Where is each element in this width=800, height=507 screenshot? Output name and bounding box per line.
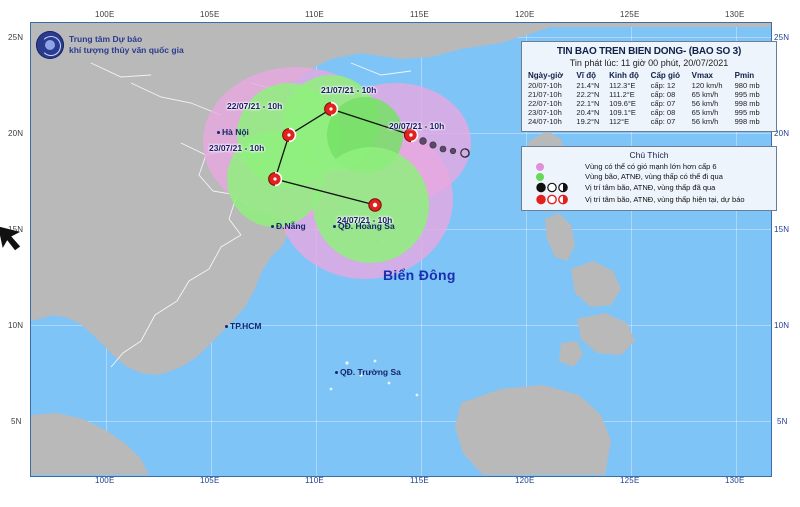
legend-symbols <box>528 163 580 171</box>
cell-pmin: 980 mb <box>735 81 770 90</box>
legend-text: Vùng có thể có gió mạnh lớn hơn cấp 6 <box>585 162 717 171</box>
cell-windlevel: cấp: 07 <box>651 99 692 108</box>
cell-latitude: 20.4°N <box>576 108 609 117</box>
axis-top-130e: 130E <box>725 10 744 19</box>
legend-text: Vị trí tâm bão, ATNĐ, vùng thấp hiện tại… <box>585 195 745 204</box>
cell-vmax: 56 km/h <box>692 117 735 126</box>
cell-longitude: 109.6°E <box>609 99 651 108</box>
cell-datetime: 24/07-10h <box>528 117 576 126</box>
cell-windlevel: cấp: 08 <box>651 90 692 99</box>
axis-right-5n: 5N <box>777 417 788 426</box>
table-row: 24/07-10h 19.2°N 112°E cấp: 07 56 km/h 9… <box>528 117 770 126</box>
legend-item-strong-wind-area: Vùng có thể có gió mạnh lớn hơn cấp 6 <box>528 162 770 171</box>
axis-left-5n: 5N <box>11 417 22 426</box>
axis-top-100e: 100E <box>95 10 114 19</box>
cell-pmin: 998 mb <box>735 99 770 108</box>
cell-datetime: 22/07-10h <box>528 99 576 108</box>
table-header-row: Ngày-giờ Vĩ độ Kinh độ Cấp gió Vmax Pmin <box>528 71 770 81</box>
axis-top-115e: 115E <box>410 10 429 19</box>
axis-top-110e: 110E <box>305 10 324 19</box>
col-longitude: Kinh độ <box>609 71 651 81</box>
storm-info-title: TIN BAO TREN BIEN DONG- (BAO SO 3) <box>528 46 770 57</box>
sea-label-bien-dong: Biển Đông <box>383 267 456 283</box>
purple-disc-icon <box>536 163 544 171</box>
storm-info-panel: TIN BAO TREN BIEN DONG- (BAO SO 3) Tin p… <box>521 41 777 132</box>
cell-latitude: 22.1°N <box>576 99 609 108</box>
axis-left-20n: 20N <box>8 129 23 138</box>
axis-bottom-125e: 125E <box>620 476 639 485</box>
legend-symbols <box>528 182 580 193</box>
table-row: 23/07-10h 20.4°N 109.1°E cấp: 08 65 km/h… <box>528 108 770 117</box>
cell-longitude: 112°E <box>609 117 651 126</box>
axis-right-10n: 10N <box>774 321 789 330</box>
cell-vmax: 65 km/h <box>692 108 735 117</box>
city-label-hanoi: Hà Nội <box>217 127 249 137</box>
track-label-22-07: 22/07/21 - 10h <box>227 101 282 111</box>
axis-top-105e: 105E <box>200 10 219 19</box>
agency-name: Trung tâm Dự báo khí tượng thủy văn quốc… <box>69 34 184 56</box>
storm-area-green-24-07 <box>313 147 429 263</box>
gridline-lon-100e <box>106 23 107 476</box>
city-dot-icon <box>217 131 220 134</box>
city-dot-icon <box>225 325 228 328</box>
table-row: 20/07-10h 21.4°N 112.3°E cấp: 12 120 km/… <box>528 81 770 90</box>
storm-info-issued-time: Tin phát lúc: 11 giờ 00 phút, 20/07/2021 <box>528 58 770 68</box>
mouse-cursor-icon <box>0 222 26 256</box>
legend-text: Vị trí tâm bão, ATNĐ, vùng thấp đã qua <box>585 183 715 192</box>
axis-bottom-115e: 115E <box>410 476 429 485</box>
cell-vmax: 56 km/h <box>692 99 735 108</box>
city-dot-icon <box>335 371 338 374</box>
legend-item-past-positions: Vị trí tâm bão, ATNĐ, vùng thấp đã qua <box>528 182 770 193</box>
agency-name-line2: khí tượng thủy văn quốc gia <box>69 45 184 56</box>
axis-left-25n: 25N <box>8 33 23 42</box>
track-label-20-07: 20/07/21 - 10h <box>389 121 444 131</box>
legend-symbols <box>528 194 580 205</box>
cell-latitude: 19.2°N <box>576 117 609 126</box>
cell-pmin: 995 mb <box>735 108 770 117</box>
legend-symbols <box>528 173 580 181</box>
col-windlevel: Cấp gió <box>651 71 692 81</box>
legend-text: Vùng bão, ATNĐ, vùng thấp có thể đi qua <box>585 172 723 181</box>
cell-longitude: 112.3°E <box>609 81 651 90</box>
axis-bottom-105e: 105E <box>200 476 219 485</box>
agency-logo: Trung tâm Dự báo khí tượng thủy văn quốc… <box>36 31 184 59</box>
cell-pmin: 995 mb <box>735 90 770 99</box>
col-vmax: Vmax <box>692 71 735 81</box>
cell-pmin: 998 mb <box>735 117 770 126</box>
track-label-23-07: 23/07/21 - 10h <box>209 143 264 153</box>
axis-right-15n: 15N <box>774 225 789 234</box>
forecast-table: Ngày-giờ Vĩ độ Kinh độ Cấp gió Vmax Pmin… <box>528 71 770 126</box>
gridline-lat-10n <box>31 325 771 326</box>
axis-bottom-110e: 110E <box>305 476 324 485</box>
legend-title: Chú Thích <box>528 150 770 160</box>
cell-windlevel: cấp: 07 <box>651 117 692 126</box>
gridline-lon-105e <box>211 23 212 476</box>
cell-longitude: 111.2°E <box>609 90 651 99</box>
axis-bottom-130e: 130E <box>725 476 744 485</box>
gridline-lat-5n <box>31 421 771 422</box>
cell-latitude: 22.2°N <box>576 90 609 99</box>
cell-vmax: 65 km/h <box>692 90 735 99</box>
legend-item-current-forecast-positions: Vị trí tâm bão, ATNĐ, vùng thấp hiện tại… <box>528 194 770 205</box>
cell-datetime: 21/07-10h <box>528 90 576 99</box>
red-storm-symbols-icon <box>536 194 572 205</box>
col-latitude: Vĩ độ <box>576 71 609 81</box>
cell-windlevel: cấp: 08 <box>651 108 692 117</box>
weather-agency-icon <box>36 31 64 59</box>
cell-longitude: 109.1°E <box>609 108 651 117</box>
storm-track-map-page: 20/07/21 - 10h 21/07/21 - 10h 22/07/21 -… <box>0 0 800 507</box>
legend-item-storm-path-area: Vùng bão, ATNĐ, vùng thấp có thể đi qua <box>528 172 770 181</box>
table-row: 22/07-10h 22.1°N 109.6°E cấp: 07 56 km/h… <box>528 99 770 108</box>
city-dot-icon <box>333 225 336 228</box>
axis-top-120e: 120E <box>515 10 534 19</box>
axis-bottom-100e: 100E <box>95 476 114 485</box>
city-label-tphcm: TP.HCM <box>225 321 262 331</box>
table-row: 21/07-10h 22.2°N 111.2°E cấp: 08 65 km/h… <box>528 90 770 99</box>
map-legend-panel: Chú Thích Vùng có thể có gió mạnh lớn hơ… <box>521 146 777 211</box>
track-label-21-07: 21/07/21 - 10h <box>321 85 376 95</box>
axis-bottom-120e: 120E <box>515 476 534 485</box>
axis-top-125e: 125E <box>620 10 639 19</box>
axis-left-10n: 10N <box>8 321 23 330</box>
black-storm-symbols-icon <box>536 182 572 193</box>
cell-windlevel: cấp: 12 <box>651 81 692 90</box>
cell-latitude: 21.4°N <box>576 81 609 90</box>
city-label-danang: Đ.Nẵng <box>271 221 306 231</box>
agency-name-line1: Trung tâm Dự báo <box>69 34 184 45</box>
col-datetime: Ngày-giờ <box>528 71 576 81</box>
city-label-hoangsa: QĐ. Hoàng Sa <box>333 221 395 231</box>
city-dot-icon <box>271 225 274 228</box>
cell-vmax: 120 km/h <box>692 81 735 90</box>
green-disc-icon <box>536 173 544 181</box>
col-pmin: Pmin <box>735 71 770 81</box>
cell-datetime: 20/07-10h <box>528 81 576 90</box>
cell-datetime: 23/07-10h <box>528 108 576 117</box>
city-label-truongsa: QĐ. Trường Sa <box>335 367 401 377</box>
